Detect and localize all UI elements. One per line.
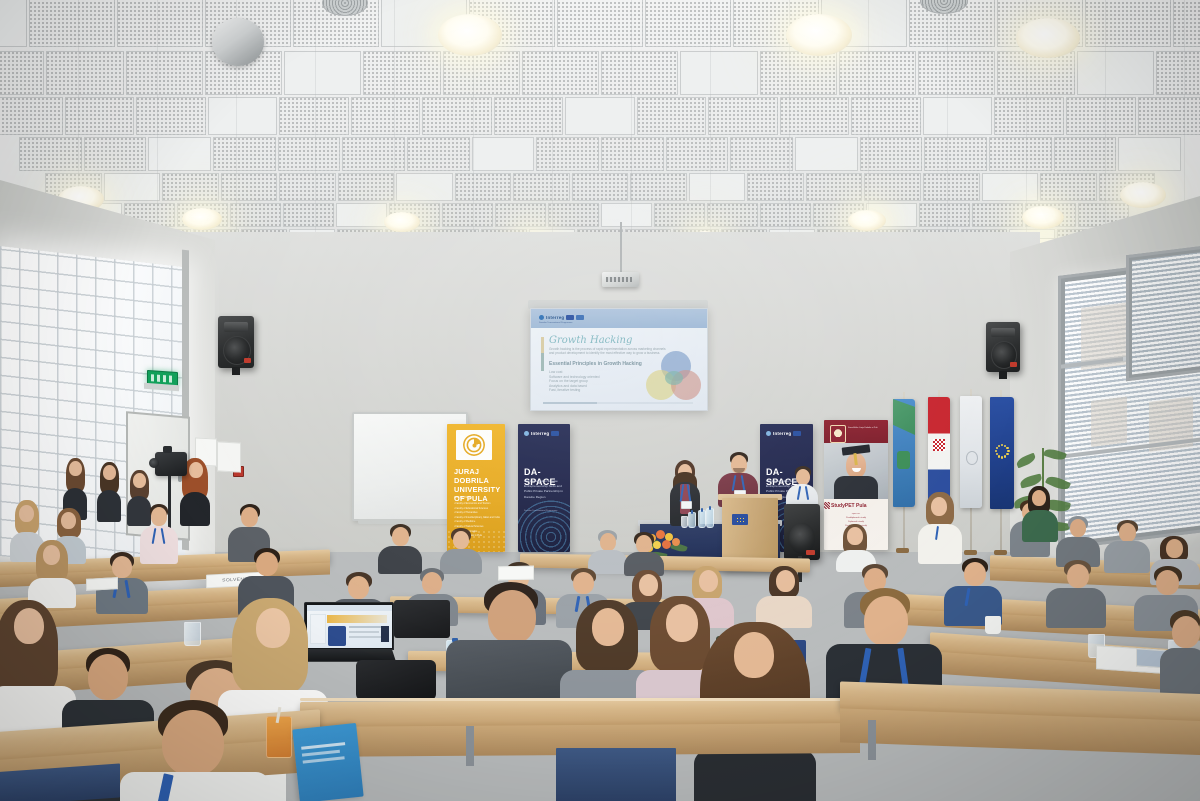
eu-star-icon — [1007, 450, 1009, 452]
interreg-star-icon — [766, 431, 771, 436]
head — [864, 596, 908, 646]
desk-leg — [466, 726, 474, 766]
interreg-logo-text: Interreg — [531, 431, 549, 436]
eu-star-icon — [998, 445, 1000, 447]
head — [592, 608, 624, 646]
speaker-logo — [1010, 362, 1017, 367]
head — [256, 608, 290, 648]
flyer-text-line — [302, 750, 340, 757]
attendee — [1046, 560, 1106, 626]
text-line — [349, 626, 383, 628]
attendee — [1056, 516, 1100, 566]
head — [636, 535, 652, 553]
ceiling-spot-dome — [212, 18, 264, 66]
head — [422, 572, 442, 594]
top — [1022, 510, 1058, 542]
projection-screen: Interreg Danube Transnational Programme … — [530, 308, 708, 411]
flag-base — [994, 550, 1007, 555]
venn-diagram — [645, 351, 699, 399]
banner-daspace-subtitle: Open Innovation to raise Entrepreneurshi… — [524, 479, 566, 500]
flag-base — [964, 550, 977, 555]
eu-star-icon — [1006, 447, 1008, 449]
head — [573, 572, 594, 594]
interreg-logo: Interreg — [766, 431, 801, 436]
head — [103, 465, 116, 480]
shirt — [120, 772, 270, 801]
projector-pole — [620, 222, 622, 274]
name-badge — [681, 501, 692, 509]
slide-heading: Essential Principles in Growth Hacking — [549, 361, 642, 367]
flower — [672, 538, 680, 546]
camera-mic — [163, 446, 172, 453]
attendee-frontmost — [120, 700, 270, 801]
slide-header-band: Interreg Danube Transnational Programme — [531, 309, 707, 328]
desk-leg — [868, 720, 876, 760]
programme-mark-icon — [576, 315, 584, 320]
head — [14, 608, 44, 644]
text-line — [349, 636, 381, 638]
text-line — [349, 631, 379, 633]
ceiling-light — [848, 210, 886, 231]
graduation-cap-icon — [842, 444, 871, 455]
head — [189, 462, 203, 478]
head — [1119, 523, 1136, 542]
plant-leaf — [1015, 453, 1037, 469]
head — [600, 533, 616, 551]
papers — [498, 566, 534, 581]
flag-croatia — [928, 397, 950, 507]
banner-study-brand: StudyPET Pula — [831, 503, 867, 509]
attendee — [624, 532, 664, 574]
slide-accent-bar — [541, 353, 544, 371]
spiral-logo-icon — [463, 434, 485, 456]
side-panel — [381, 626, 389, 642]
ceiling-light — [1016, 18, 1080, 58]
study-brand-icon — [824, 502, 830, 509]
drinking-glass — [184, 622, 201, 646]
attendee — [944, 558, 1002, 624]
blue-flyer[interactable] — [292, 723, 363, 801]
graduate-photo — [824, 443, 888, 499]
head — [392, 527, 409, 546]
ceiling-light — [1120, 182, 1166, 208]
speaker-logo — [244, 358, 251, 363]
flag-istria-emblem — [897, 451, 910, 469]
attendee — [756, 566, 812, 626]
avatar-illustration — [328, 626, 346, 646]
top — [446, 640, 572, 706]
eu-star-icon — [1006, 453, 1008, 455]
banner-image — [327, 615, 387, 623]
interreg-logo-text: Interreg — [546, 315, 564, 320]
desk-side-panel — [556, 748, 676, 801]
banner-daspace-left: Interreg DA-SPACE Open Innovation to rai… — [518, 424, 570, 552]
wall-poster — [217, 441, 241, 472]
head — [1166, 539, 1183, 558]
video-camera — [155, 452, 187, 476]
flyer-text-line — [303, 756, 345, 763]
banner-crest-text: Sveučilište Jurja Dobrile u Puli — [848, 427, 884, 430]
water-bottle — [698, 510, 706, 528]
university-crest-icon — [830, 425, 846, 443]
interreg-logo-text: Interreg — [773, 431, 791, 436]
venn-center — [665, 371, 683, 385]
head — [241, 507, 258, 527]
head — [488, 590, 536, 644]
croatian-checkerboard-icon — [933, 439, 945, 451]
ceiling-light — [438, 14, 502, 56]
flag-istria — [893, 399, 915, 507]
interreg-star-icon — [524, 431, 529, 436]
eu-star-icon — [995, 450, 997, 452]
eu-star-icon — [998, 455, 1000, 457]
head — [1032, 490, 1046, 506]
paper-cup — [985, 616, 1001, 634]
head — [847, 527, 863, 545]
slide-title: Growth Hacking — [549, 335, 632, 346]
flag-base — [896, 548, 909, 553]
flag-istria-green-band — [893, 399, 915, 435]
top — [180, 492, 210, 526]
head — [348, 576, 369, 599]
banner-university-kicker: FACULTIES — [454, 495, 470, 499]
head — [1156, 570, 1179, 595]
projector — [602, 272, 639, 287]
speaker-bracket — [999, 371, 1007, 379]
speaker-horn — [991, 328, 1014, 337]
graduate-smile — [852, 468, 861, 472]
eu-star-icon — [1001, 456, 1003, 458]
papers — [86, 577, 118, 591]
top — [97, 490, 121, 522]
head — [699, 570, 718, 592]
head — [256, 552, 278, 576]
speaker-logo — [806, 550, 815, 555]
interreg-subtitle: Danube Transnational Programme — [539, 322, 572, 324]
head — [88, 654, 128, 700]
floor-speaker — [784, 504, 820, 560]
speaker-horn — [224, 322, 248, 331]
head — [133, 473, 146, 488]
head — [1172, 616, 1200, 648]
interreg-star-icon — [539, 315, 544, 320]
ceiling-light — [384, 212, 420, 232]
ceiling-light — [1022, 206, 1064, 229]
window-right-upper — [1126, 245, 1200, 382]
head — [796, 469, 810, 485]
eu-flag-icon — [566, 315, 574, 320]
ceiling-light — [182, 208, 222, 230]
head — [776, 570, 795, 592]
head — [931, 497, 947, 516]
head — [112, 556, 132, 578]
eu-star-icon — [996, 447, 998, 449]
attendee-standing — [96, 462, 122, 522]
attendee — [1022, 486, 1058, 542]
speaker-bracket — [232, 367, 241, 375]
lecture-hall-photo: Interreg Danube Transnational Programme … — [0, 0, 1200, 801]
attendee — [1104, 520, 1150, 572]
attendee — [378, 524, 422, 572]
drinking-glass — [681, 516, 688, 528]
water-bottle — [706, 508, 714, 528]
camera-lens — [149, 458, 159, 468]
eu-flag-icon — [793, 431, 801, 436]
backpack — [356, 660, 436, 700]
head — [639, 574, 658, 596]
university-logo — [456, 430, 492, 460]
head — [61, 512, 76, 529]
head — [19, 505, 34, 522]
slide-bullet-list: Low costSoftware and technology oriented… — [549, 370, 641, 393]
plant-leaf — [1043, 447, 1067, 462]
top — [1046, 588, 1106, 628]
interreg-logo: Interreg — [539, 315, 584, 320]
head — [1070, 519, 1086, 537]
eu-emblem-icon — [732, 514, 748, 525]
desk-edge — [300, 698, 860, 701]
head — [453, 531, 469, 549]
graduate-gown — [834, 476, 878, 499]
head — [162, 710, 224, 776]
attendee-standing — [918, 492, 962, 564]
pa-speaker-left — [218, 316, 254, 368]
eu-stars-icon — [994, 443, 1010, 459]
head — [69, 461, 82, 476]
flag-eu — [990, 397, 1014, 509]
building-outside — [1091, 397, 1127, 447]
eu-star-icon — [1001, 444, 1003, 446]
attendee — [440, 528, 482, 572]
head — [151, 507, 167, 526]
head — [964, 562, 986, 586]
laptop-bag — [394, 600, 450, 638]
attendee-foreground — [446, 582, 572, 704]
slide-bullet: Fast, iterative testing — [549, 388, 641, 393]
flag-university — [960, 396, 982, 508]
slide-progress-bar — [543, 402, 693, 404]
flag-university-emblem — [966, 451, 978, 465]
venetian-blinds — [1132, 251, 1200, 374]
eu-flag-icon — [551, 431, 559, 436]
banner-wave-graphic — [518, 500, 570, 552]
water-bottle — [688, 512, 696, 528]
flyer-text-line — [301, 742, 345, 750]
interreg-logo: Interreg — [524, 431, 559, 436]
head — [43, 545, 60, 565]
top — [694, 750, 816, 801]
eu-star-icon — [1004, 455, 1006, 457]
head — [1067, 564, 1089, 588]
ceiling-light — [786, 14, 852, 56]
attendee — [28, 540, 76, 606]
pa-speaker-right — [986, 322, 1020, 372]
head — [734, 632, 774, 678]
attendee — [588, 530, 628, 572]
